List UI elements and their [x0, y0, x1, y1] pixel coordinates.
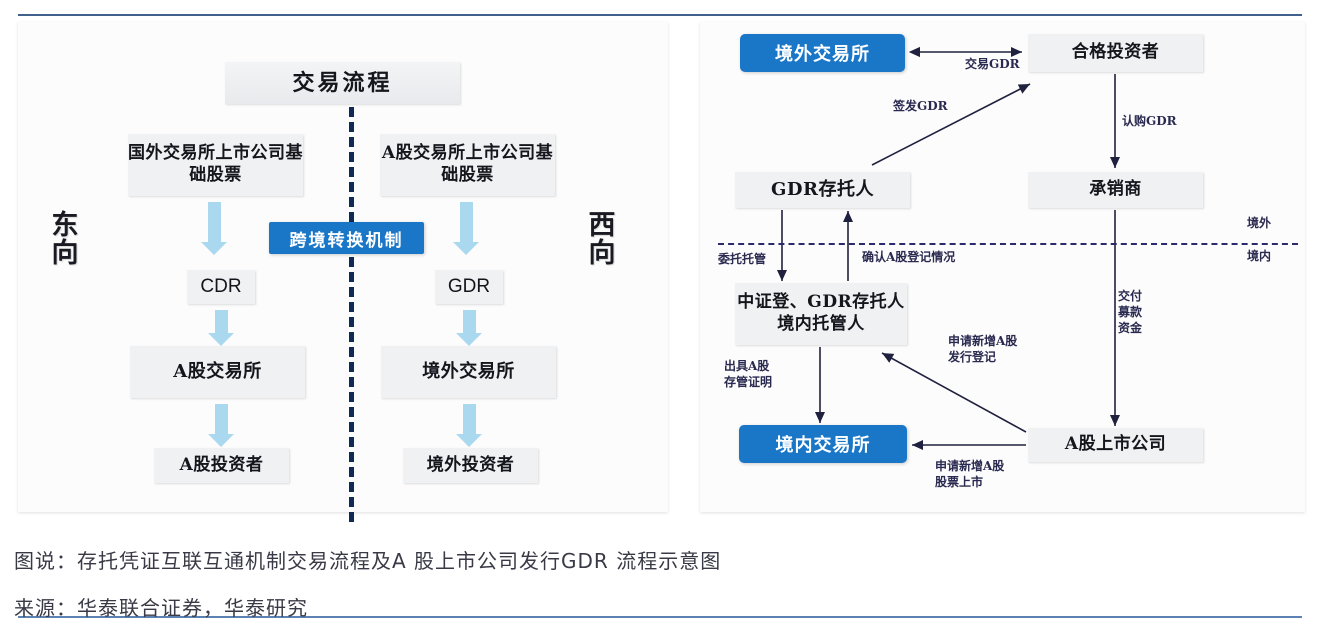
node-a-share-listed-company: A股上市公司: [1028, 428, 1203, 462]
down-arrow-icon-east-2: [208, 310, 234, 346]
node-gdr: GDR: [435, 270, 503, 304]
node-domestic-exchange: 境内交易所: [739, 425, 907, 463]
label-direction-east: 东向: [48, 212, 82, 269]
node-overseas-listed-shares: 国外交易所上市公司基础股票: [128, 134, 303, 196]
onshore-offshore-dashed-line: [718, 243, 1298, 245]
edge-label-confirm-registration: 确认A股登记情况: [862, 249, 955, 265]
node-overseas-exchange-right: 境外交易所: [740, 34, 905, 72]
edge-label-deliver-funds: 交付 募款 资金: [1118, 288, 1142, 337]
zone-label-onshore: 境内: [1247, 248, 1271, 264]
node-a-share-exchange: A股交易所: [130, 346, 305, 398]
edge-label-entrust-custody: 委托托管: [718, 251, 766, 267]
vertical-dashed-divider: [349, 107, 354, 522]
left-panel-title: 交易流程: [225, 62, 460, 104]
down-arrow-icon-west-2: [456, 310, 482, 346]
node-cross-border-mechanism: 跨境转换机制: [269, 222, 424, 254]
left-panel: 交易流程 国外交易所上市公司基础股票 CDR A股交易所 A股投资者 A股交易所…: [18, 22, 668, 512]
edge-label-trade-gdr: 交易GDR: [965, 56, 1020, 72]
figure-caption: 图说：存托凭证互联互通机制交易流程及A 股上市公司发行GDR 流程示意图: [14, 545, 721, 574]
edge-label-subscribe-gdr: 认购GDR: [1122, 113, 1177, 129]
edge-label-issue-gdr: 签发GDR: [893, 98, 948, 114]
down-arrow-icon-west-1: [453, 202, 479, 255]
edge-label-issue-certificate: 出具A股 存管证明: [724, 358, 772, 390]
node-csdc-domestic-custodian: 中证登、GDR存托人境内托管人: [735, 283, 907, 345]
node-gdr-depositary: GDR存托人: [735, 172, 910, 208]
node-overseas-investor: 境外投资者: [403, 448, 538, 483]
diagram-canvas: 交易流程 国外交易所上市公司基础股票 CDR A股交易所 A股投资者 A股交易所…: [0, 0, 1320, 632]
down-arrow-icon-west-3: [456, 404, 482, 447]
down-arrow-icon-east-3: [208, 404, 234, 447]
label-direction-west: 西向: [585, 212, 619, 269]
node-qualified-investor: 合格投资者: [1028, 34, 1203, 72]
zone-label-offshore: 境外: [1247, 215, 1271, 231]
node-a-share-investor: A股投资者: [154, 448, 289, 483]
node-a-share-listed-shares: A股交易所上市公司基础股票: [380, 134, 555, 196]
node-cdr: CDR: [187, 270, 255, 304]
edge-label-apply-listing: 申请新增A股 股票上市: [935, 458, 1004, 490]
node-overseas-exchange-left: 境外交易所: [381, 346, 556, 398]
figure-source: 来源：华泰联合证券，华泰研究: [14, 592, 308, 621]
top-rule: [18, 14, 1302, 16]
node-underwriter: 承销商: [1028, 172, 1203, 208]
edge-label-apply-issue-registration: 申请新增A股 发行登记: [948, 333, 1017, 365]
down-arrow-icon-east-1: [201, 202, 227, 255]
